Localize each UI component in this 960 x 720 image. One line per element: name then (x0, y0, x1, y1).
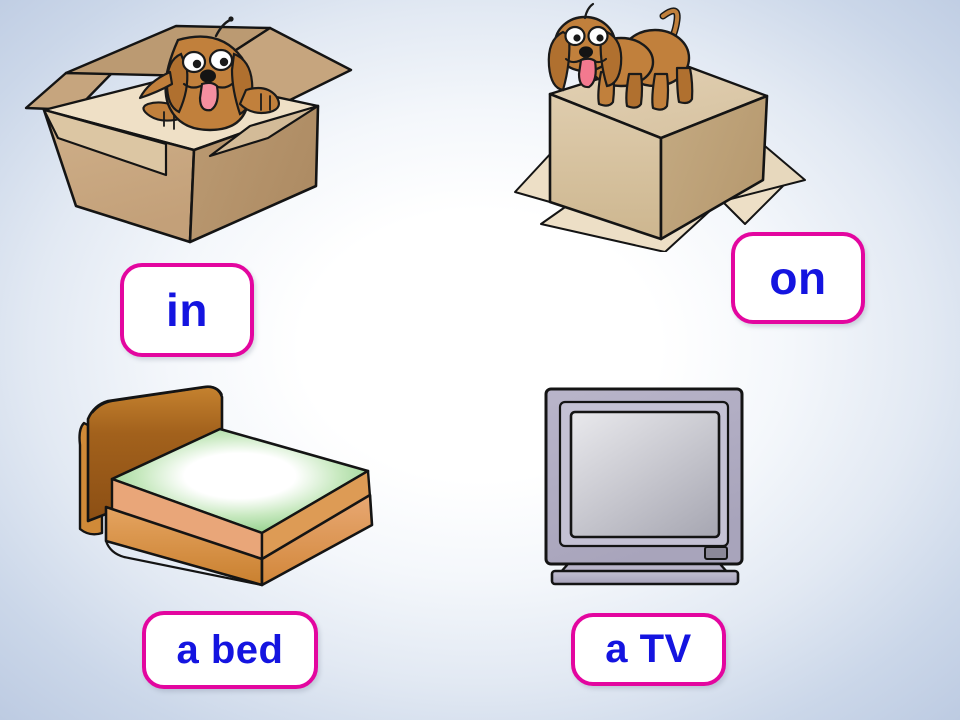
television-illustration (538, 383, 766, 588)
dog-in-box-svg (18, 10, 368, 250)
dog-in-open-cardboard-box-illustration (18, 10, 368, 250)
dog-on-closed-cardboard-box-illustration (505, 0, 825, 252)
label-card-in[interactable]: in (120, 263, 254, 357)
label-card-on[interactable]: on (731, 232, 865, 324)
bed-illustration (72, 383, 402, 588)
slide-canvas: in on a bed a TV (0, 0, 960, 720)
label-card-a-tv[interactable]: a TV (571, 613, 726, 686)
dog-on-box-svg (505, 0, 825, 252)
label-card-a-bed[interactable]: a bed (142, 611, 318, 689)
tv-svg (538, 383, 766, 588)
bed-svg (72, 383, 402, 588)
